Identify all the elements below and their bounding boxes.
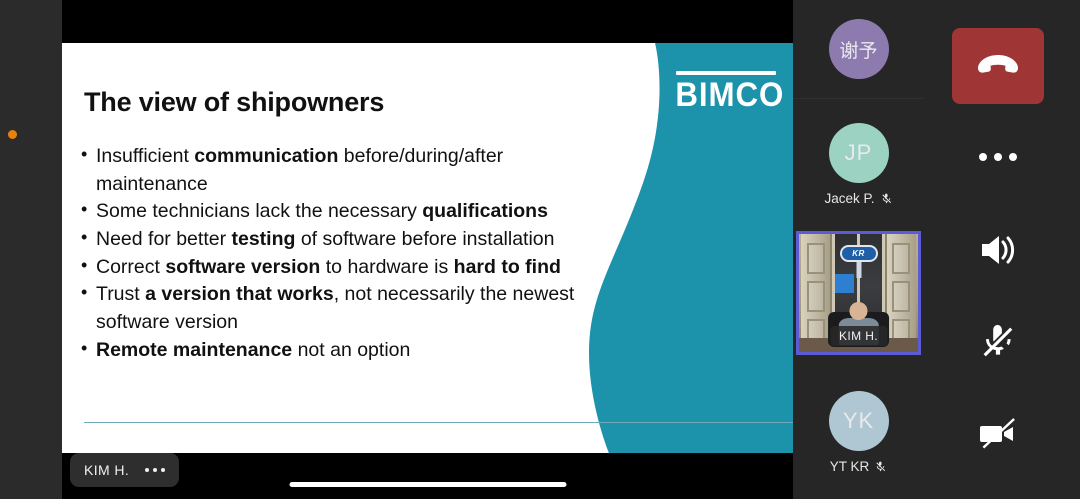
more-options-button[interactable] — [952, 119, 1044, 195]
bullet-emphasis: a version that works — [145, 283, 334, 305]
bullet-emphasis: testing — [232, 228, 296, 250]
bullet-emphasis: Remote maintenance — [96, 339, 292, 361]
avatar: YK — [829, 391, 889, 451]
bullet-text: Some technicians lack the necessary — [96, 200, 422, 222]
kr-logo-badge: KR — [840, 245, 878, 262]
slide-bullet-item: Insufficient communication before/during… — [80, 143, 610, 198]
video-name-label: KIM H. — [830, 326, 887, 346]
video-participant-tile[interactable]: KR KIM H. — [793, 228, 924, 358]
participant-tile[interactable]: JP Jacek P. — [793, 99, 924, 229]
bullet-text: to hardware is — [320, 256, 453, 278]
slide-bullet-item: Trust a version that works, not necessar… — [80, 281, 610, 336]
speaker-on-icon — [978, 232, 1018, 268]
slide-accent-shape — [583, 43, 793, 453]
slide-bullet-item: Remote maintenance not an option — [80, 337, 610, 365]
hangup-button[interactable] — [952, 28, 1044, 104]
participant-tile[interactable]: 谢予 — [793, 0, 924, 99]
slide-bullet-list: Insufficient communication before/during… — [80, 143, 610, 365]
mic-off-icon — [874, 460, 887, 473]
call-controls-bar — [924, 0, 1080, 499]
participant-name-row: YT KR — [830, 459, 888, 474]
participant-name: Jacek P. — [824, 191, 874, 206]
avatar: JP — [829, 123, 889, 183]
avatar: 谢予 — [829, 19, 889, 79]
bullet-text: Insufficient — [96, 145, 194, 167]
bullet-text: of software before installation — [295, 228, 554, 250]
slide-bullet-item: Some technicians lack the necessary qual… — [80, 198, 610, 226]
slide-title: The view of shipowners — [84, 87, 384, 118]
bullet-emphasis: qualifications — [422, 200, 548, 222]
bullet-emphasis: hard to find — [454, 256, 561, 278]
participants-column: 谢予 JP Jacek P. — [793, 0, 924, 499]
bullet-text: Trust — [96, 283, 145, 305]
camera-off-icon — [977, 418, 1019, 450]
left-rail — [0, 0, 62, 499]
video-monitor — [835, 274, 854, 293]
presenter-name-pill[interactable]: KIM H. — [70, 453, 179, 487]
ellipsis-icon — [979, 153, 1017, 161]
presentation-slide: BIMCO The view of shipowners Insufficien… — [62, 43, 793, 453]
slide-footer-rule — [84, 422, 793, 423]
mic-off-icon — [980, 322, 1016, 362]
participant-tile[interactable]: YK YT KR — [793, 362, 924, 499]
participant-name-row: Jacek P. — [824, 191, 892, 206]
bullet-emphasis: communication — [194, 145, 338, 167]
video-sign-stem — [856, 262, 861, 279]
participant-name: YT KR — [830, 459, 870, 474]
recording-indicator — [8, 130, 17, 139]
ellipsis-icon[interactable] — [145, 468, 165, 472]
home-indicator — [289, 482, 566, 487]
slide-bullet-item: Need for better testing of software befo… — [80, 226, 610, 254]
shared-content-stage[interactable]: BIMCO The view of shipowners Insufficien… — [62, 0, 793, 499]
bullet-text: Correct — [96, 256, 165, 278]
speaker-button[interactable] — [952, 212, 1044, 288]
bullet-text: Need for better — [96, 228, 232, 250]
video-call-screen: BIMCO The view of shipowners Insufficien… — [0, 0, 1080, 499]
slide-bullet-item: Correct software version to hardware is … — [80, 254, 610, 282]
presenter-name-label: KIM H. — [84, 462, 129, 478]
bullet-text: not an option — [292, 339, 410, 361]
microphone-button[interactable] — [952, 304, 1044, 380]
bullet-emphasis: software version — [165, 256, 320, 278]
camera-button[interactable] — [952, 396, 1044, 472]
video-frame: KR KIM H. — [796, 231, 921, 355]
hangup-phone-icon — [976, 53, 1020, 79]
mic-off-icon — [880, 192, 893, 205]
